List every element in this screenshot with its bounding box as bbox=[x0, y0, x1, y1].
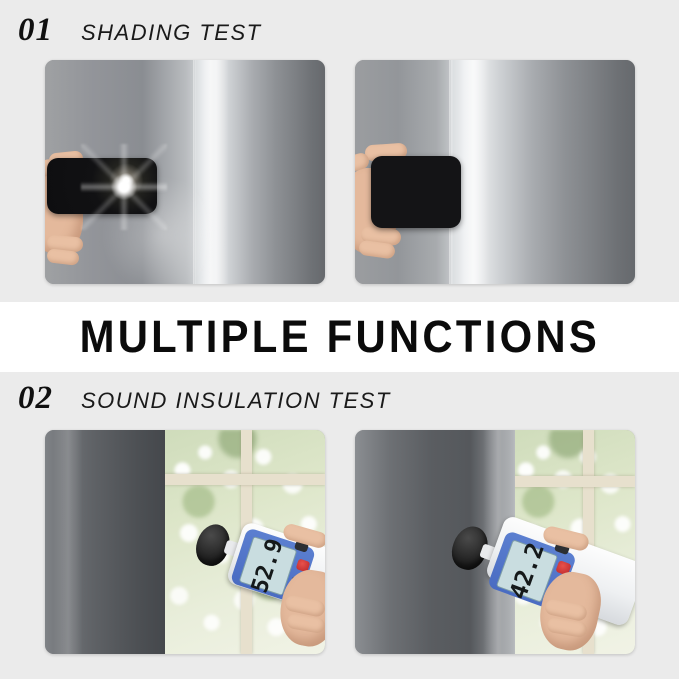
window-mullion-horizontal bbox=[163, 474, 325, 485]
section-label: SOUND INSULATION TEST bbox=[81, 390, 391, 412]
scene-window-closed: 42.2 ◉ bbox=[355, 430, 635, 654]
scene-curtain-blocked bbox=[355, 60, 635, 284]
section-number: 01 bbox=[18, 14, 53, 47]
curtain-panel bbox=[45, 430, 165, 654]
photo-sound-curtain-closed: 42.2 ◉ bbox=[355, 430, 635, 654]
meter-reading: 52.9 bbox=[247, 536, 289, 597]
infographic-page: 01 SHADING TEST bbox=[0, 0, 679, 679]
smartphone bbox=[47, 158, 157, 214]
smartphone bbox=[371, 156, 461, 228]
curtain-panel-right-satin bbox=[195, 60, 325, 284]
scene-curtain-flashlight bbox=[45, 60, 325, 284]
banner: MULTIPLE FUNCTIONS bbox=[0, 302, 679, 372]
curtain-panel bbox=[355, 430, 515, 654]
section-heading-01: 01 SHADING TEST bbox=[18, 14, 262, 47]
flashlight-point bbox=[111, 174, 137, 200]
scene-window-open: 52.9 bbox=[45, 430, 325, 654]
window-mullion-horizontal bbox=[511, 476, 635, 487]
meter-reading: 42.2 bbox=[504, 539, 550, 603]
banner-title: MULTIPLE FUNCTIONS bbox=[79, 311, 599, 363]
section-number: 02 bbox=[18, 382, 53, 415]
curtain-seam bbox=[193, 60, 196, 284]
photo-shading-light-on bbox=[45, 60, 325, 284]
section-label: SHADING TEST bbox=[81, 22, 262, 44]
photo-sound-curtain-open: 52.9 bbox=[45, 430, 325, 654]
curtain-panel-right-satin bbox=[451, 60, 635, 284]
section-heading-02: 02 SOUND INSULATION TEST bbox=[18, 382, 391, 415]
photo-shading-light-blocked bbox=[355, 60, 635, 284]
